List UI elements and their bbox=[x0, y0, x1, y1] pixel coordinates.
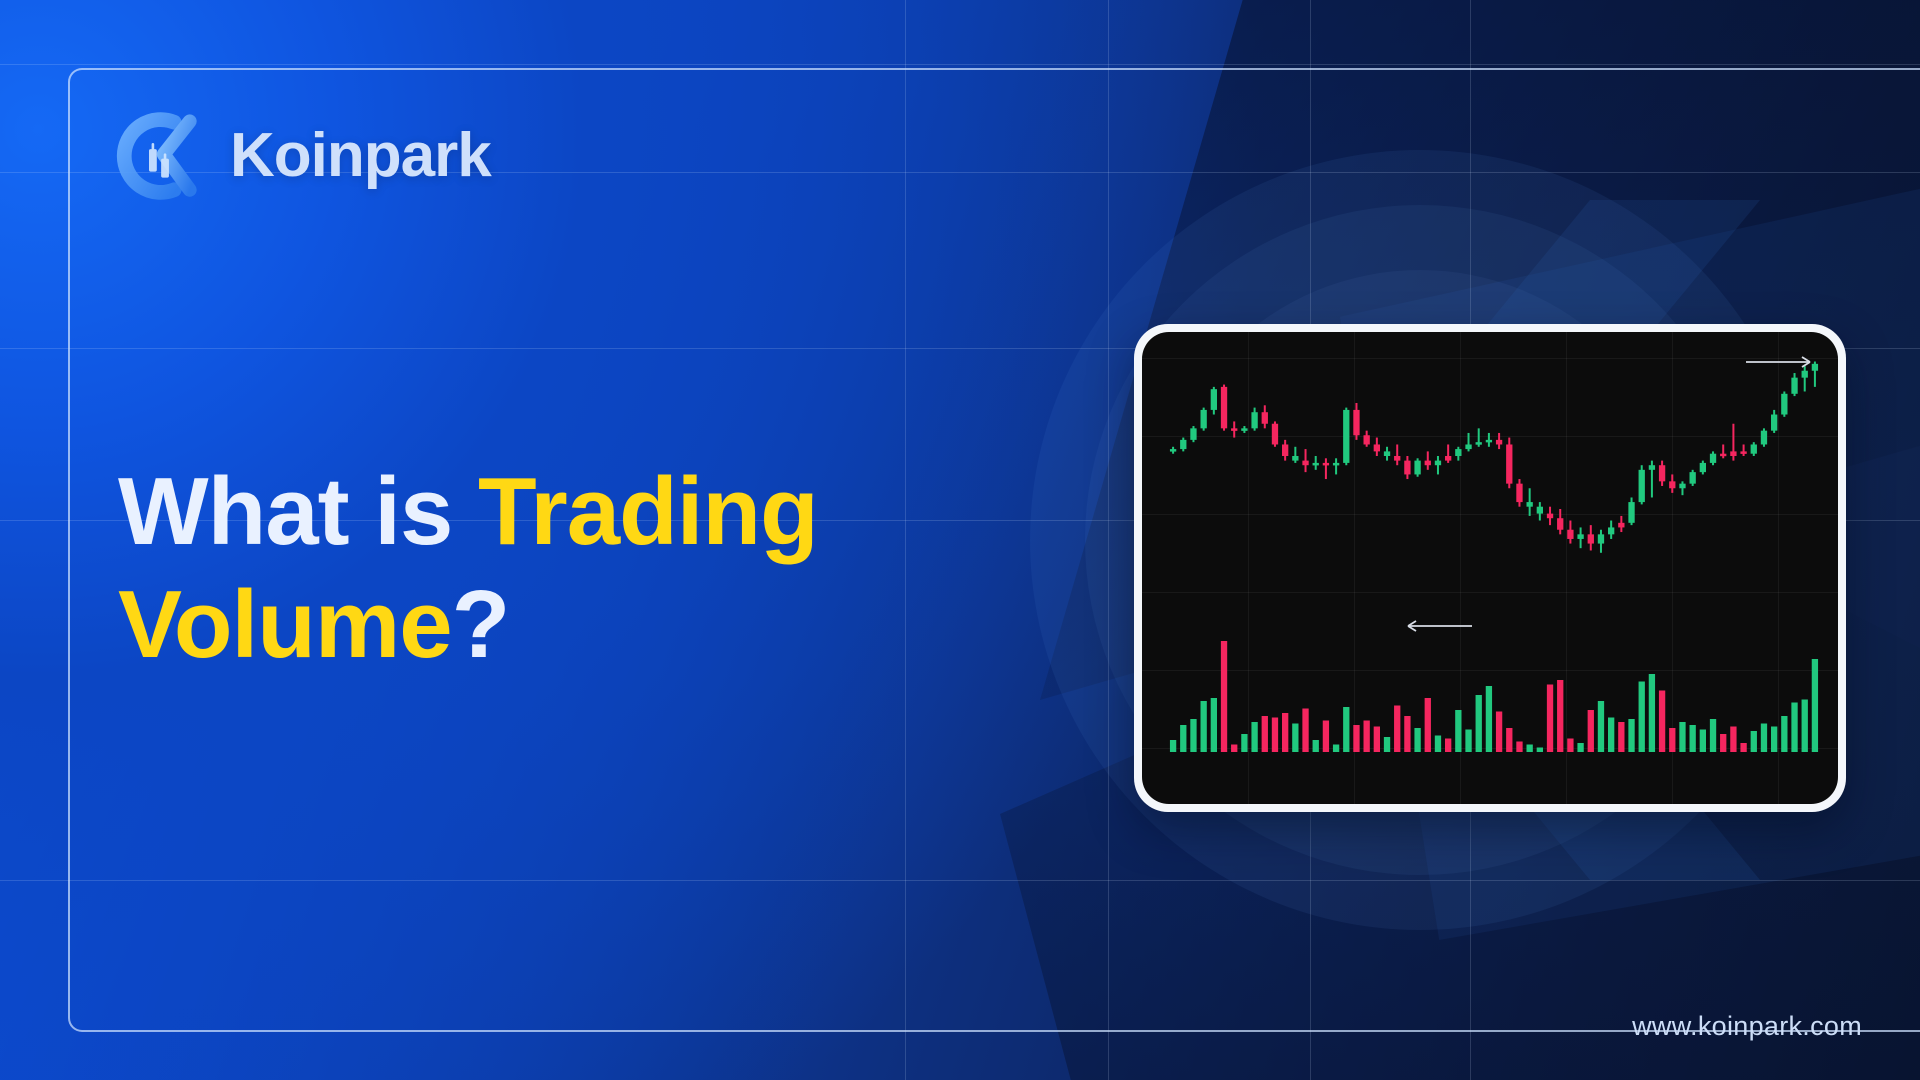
brand-logo[interactable]: Koinpark bbox=[110, 104, 491, 208]
trading-chart-card[interactable] bbox=[1134, 324, 1846, 812]
page-title: What is Trading Volume? bbox=[118, 455, 1118, 682]
headline-yellow-1: Trading bbox=[478, 458, 818, 565]
brand-name: Koinpark bbox=[230, 125, 491, 187]
headline-line-1: What is Trading bbox=[118, 455, 1118, 568]
headline-white-1: What is bbox=[118, 458, 478, 565]
candlestick-chart[interactable] bbox=[1142, 332, 1838, 804]
headline-line-2: Volume? bbox=[118, 568, 1118, 681]
chart-viewport[interactable] bbox=[1142, 332, 1838, 804]
headline-white-2: ? bbox=[452, 571, 510, 678]
banner-canvas: Koinpark What is Trading Volume? bbox=[0, 0, 1920, 1080]
koinpark-logo-mark-icon bbox=[110, 104, 214, 208]
footer-website[interactable]: www.koinpark.com bbox=[1632, 1011, 1862, 1042]
headline-yellow-2: Volume bbox=[118, 571, 452, 678]
